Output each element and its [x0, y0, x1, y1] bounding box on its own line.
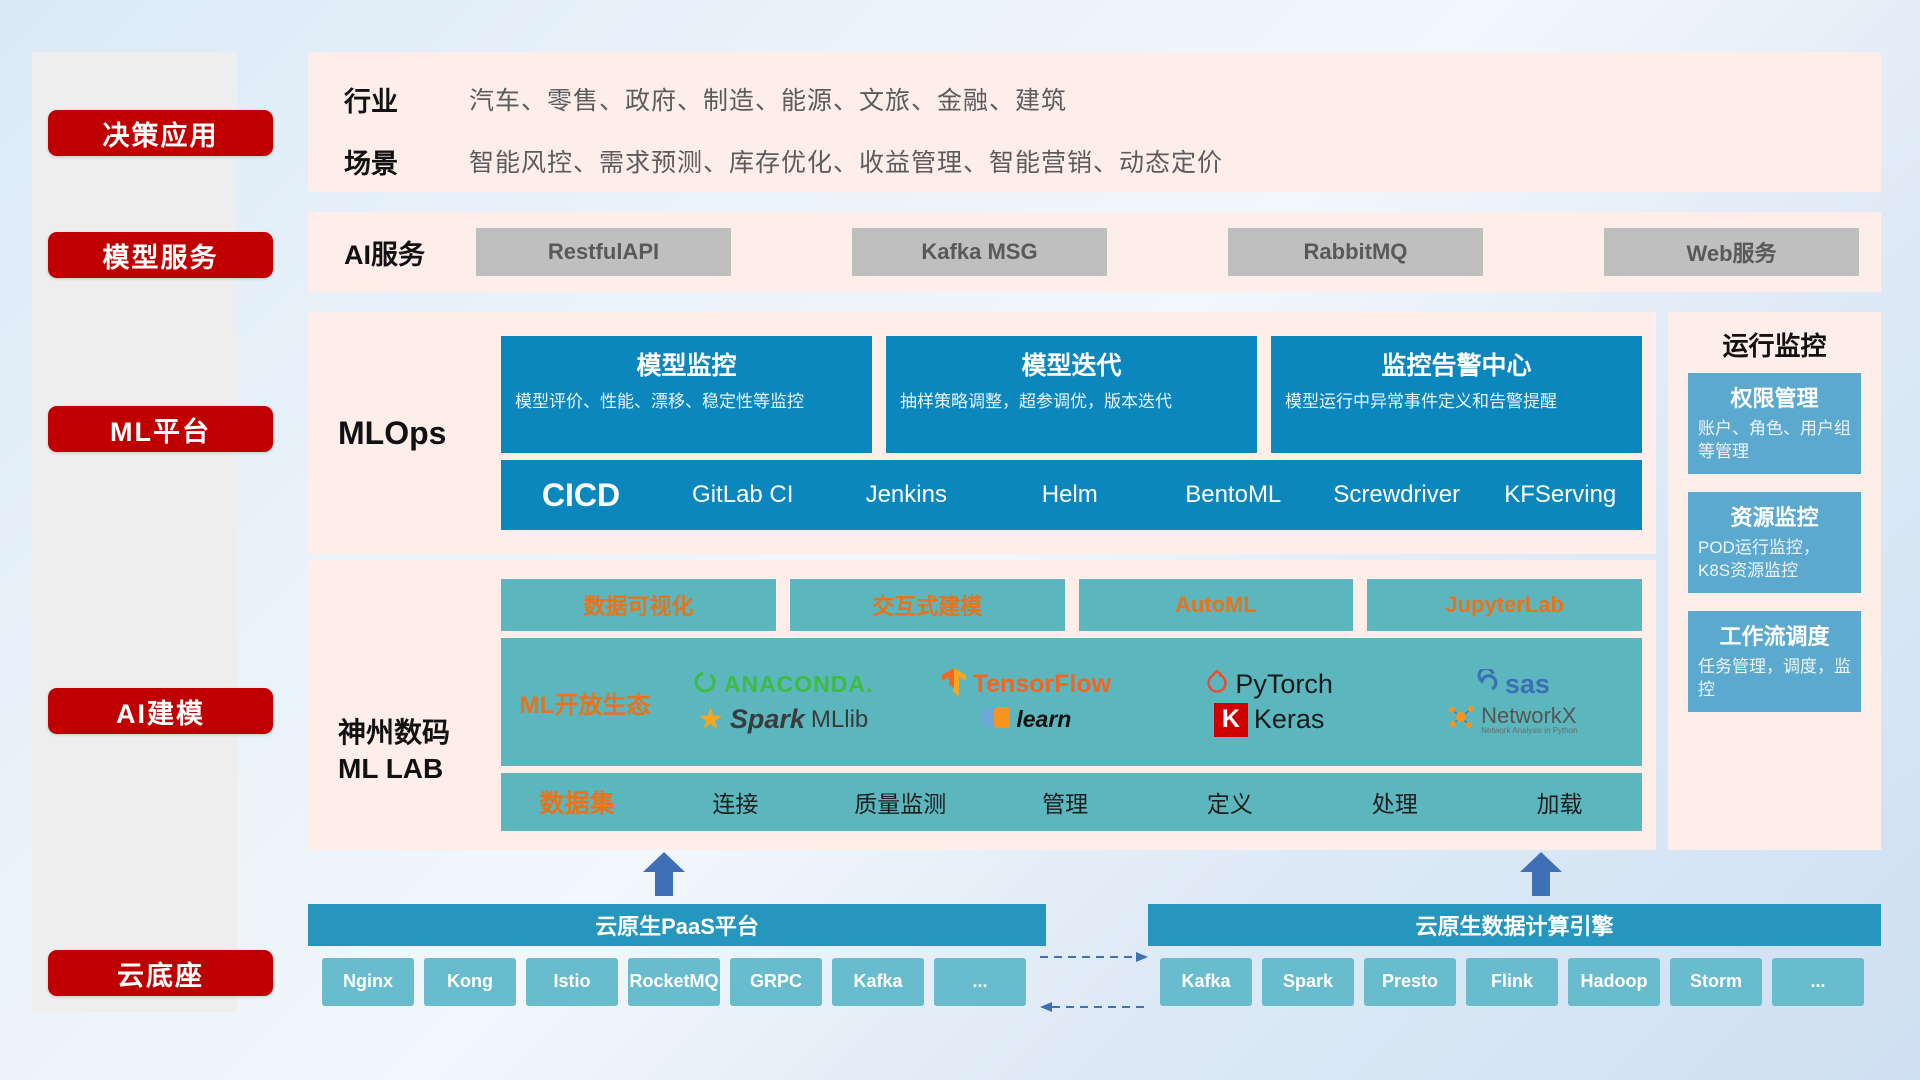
cloud-chip-kafka-engine[interactable]: Kafka	[1160, 958, 1252, 1006]
anaconda-icon	[692, 669, 718, 700]
cloud-chip-more-right[interactable]: ...	[1772, 958, 1864, 1006]
tensorflow-label: TensorFlow	[973, 670, 1111, 699]
modeling-label: 神州数码 ML LAB	[308, 623, 501, 788]
ai-service-band: AI服务 RestfulAPI Kafka MSG RabbitMQ Web服务	[308, 212, 1881, 292]
card-desc: 任务管理，调度，监控	[1698, 655, 1851, 702]
card-desc: 抽样策略调整，超参调优，版本迭代	[900, 390, 1243, 415]
card-title: 权限管理	[1698, 381, 1851, 413]
card-desc: 模型运行中异常事件定义和告警提醒	[1285, 390, 1628, 415]
mllib-label: MLlib	[811, 706, 868, 734]
cicd-item-screwdriver[interactable]: Screwdriver	[1315, 482, 1479, 507]
mlops-card-model-monitoring[interactable]: 模型监控 模型评价、性能、漂移、稳定性等监控	[501, 336, 872, 453]
dashed-connector-left-icon	[1040, 1000, 1148, 1002]
networkx-label: NetworkX	[1481, 705, 1578, 727]
tab-data-visualization[interactable]: 数据可视化	[501, 579, 776, 631]
layer-pill-ai-modeling[interactable]: AI建模	[48, 688, 273, 734]
cloud-chip-more-left[interactable]: ...	[934, 958, 1026, 1006]
keras-logo: K Keras	[1214, 703, 1325, 737]
keras-label: Keras	[1254, 704, 1325, 735]
cloud-chip-grpc[interactable]: GRPC	[730, 958, 822, 1006]
pytorch-logo: PyTorch	[1205, 668, 1333, 701]
dataset-title: 数据集	[501, 784, 653, 820]
dataset-item-load[interactable]: 加载	[1477, 785, 1642, 819]
cicd-row: CICD GitLab CI Jenkins Helm BentoML Scre…	[501, 460, 1642, 530]
tab-automl[interactable]: AutoML	[1079, 579, 1354, 631]
cicd-item-kfserving[interactable]: KFServing	[1479, 482, 1643, 507]
dataset-item-manage[interactable]: 管理	[983, 785, 1148, 819]
cicd-item-jenkins[interactable]: Jenkins	[825, 482, 989, 507]
pytorch-label: PyTorch	[1235, 669, 1333, 700]
networkx-icon	[1447, 704, 1475, 735]
tab-interactive-modeling[interactable]: 交互式建模	[790, 579, 1065, 631]
service-chip-web[interactable]: Web服务	[1604, 228, 1859, 276]
layer-rail	[32, 52, 237, 1012]
card-title: 工作流调度	[1698, 619, 1851, 651]
scikit-learn-label: learn	[1016, 706, 1071, 733]
networkx-sublabel: Network Analysis in Python	[1481, 727, 1578, 735]
tab-jupyterlab[interactable]: JupyterLab	[1367, 579, 1642, 631]
modeling-band: 神州数码 ML LAB 数据可视化 交互式建模 AutoML JupyterLa…	[308, 560, 1656, 850]
cloud-data-engine-bar[interactable]: 云原生数据计算引擎	[1148, 904, 1881, 946]
scenario-row: 场景 智能风控、需求预测、库存优化、收益管理、智能营销、动态定价	[308, 130, 1881, 192]
dataset-item-process[interactable]: 处理	[1312, 785, 1477, 819]
ml-ecosystem-row: ML开放生态 ANACONDA. TensorFlow	[501, 638, 1642, 766]
application-band: 行业 汽车、零售、政府、制造、能源、文旅、金融、建筑 场景 智能风控、需求预测、…	[308, 52, 1881, 192]
modeling-tab-group: 数据可视化 交互式建模 AutoML JupyterLab	[501, 579, 1642, 631]
keras-mark-icon: K	[1214, 703, 1248, 737]
dataset-row: 数据集 连接 质量监测 管理 定义 处理 加载	[501, 773, 1642, 831]
cloud-left-chip-group: Nginx Kong Istio RocketMQ GRPC Kafka ...	[322, 958, 1026, 1006]
dataset-item-quality[interactable]: 质量监测	[818, 785, 983, 819]
sas-icon	[1475, 669, 1499, 700]
cloud-paas-bar[interactable]: 云原生PaaS平台	[308, 904, 1046, 946]
ml-ecosystem-label: ML开放生态	[509, 685, 661, 720]
industry-value: 汽车、零售、政府、制造、能源、文旅、金融、建筑	[469, 81, 1067, 117]
layer-pill-cloud-base[interactable]: 云底座	[48, 950, 273, 996]
runtime-monitoring-title: 运行监控	[1668, 312, 1881, 373]
networkx-logo: NetworkX Network Analysis in Python	[1447, 704, 1578, 735]
monitor-card-resource[interactable]: 资源监控 POD运行监控，K8S资源监控	[1688, 492, 1861, 593]
sas-logo: sas	[1475, 669, 1550, 700]
card-desc: POD运行监控，K8S资源监控	[1698, 536, 1851, 583]
layer-pill-decision-app[interactable]: 决策应用	[48, 110, 273, 156]
cicd-title: CICD	[501, 477, 661, 514]
arrow-up-paas-icon	[643, 852, 685, 896]
modeling-label-line2: ML LAB	[338, 751, 501, 787]
sas-label: sas	[1505, 669, 1550, 700]
cicd-item-group: GitLab CI Jenkins Helm BentoML Screwdriv…	[661, 482, 1642, 507]
cloud-chip-presto[interactable]: Presto	[1364, 958, 1456, 1006]
card-title: 监控告警中心	[1285, 346, 1628, 382]
service-chip-rabbitmq[interactable]: RabbitMQ	[1228, 228, 1483, 276]
card-desc: 账户、角色、用户组等管理	[1698, 417, 1851, 464]
industry-row: 行业 汽车、零售、政府、制造、能源、文旅、金融、建筑	[308, 68, 1881, 130]
cloud-chip-nginx[interactable]: Nginx	[322, 958, 414, 1006]
cicd-item-helm[interactable]: Helm	[988, 482, 1152, 507]
spark-star-icon: ★	[697, 702, 724, 737]
tensorflow-icon	[941, 667, 967, 702]
cloud-chip-kafka[interactable]: Kafka	[832, 958, 924, 1006]
service-chip-restfulapi[interactable]: RestfulAPI	[476, 228, 731, 276]
cloud-chip-flink[interactable]: Flink	[1466, 958, 1558, 1006]
arrow-up-data-engine-icon	[1520, 852, 1562, 896]
ai-service-label: AI服务	[308, 233, 476, 272]
scenario-value: 智能风控、需求预测、库存优化、收益管理、智能营销、动态定价	[469, 143, 1223, 179]
ai-service-chip-group: RestfulAPI Kafka MSG RabbitMQ Web服务	[476, 228, 1881, 276]
scikit-ellipse-icon	[980, 702, 1010, 737]
card-desc: 模型评价、性能、漂移、稳定性等监控	[515, 390, 858, 415]
mlops-card-group: 模型监控 模型评价、性能、漂移、稳定性等监控 模型迭代 抽样策略调整，超参调优，…	[501, 336, 1642, 453]
anaconda-logo: ANACONDA.	[692, 669, 874, 700]
card-title: 模型监控	[515, 346, 858, 382]
dataset-item-group: 连接 质量监测 管理 定义 处理 加载	[653, 785, 1642, 819]
architecture-diagram: 决策应用 模型服务 ML平台 AI建模 云底座 行业 汽车、零售、政府、制造、能…	[0, 0, 1920, 1080]
mlops-label: MLOps	[308, 415, 501, 452]
mlops-body: 模型监控 模型评价、性能、漂移、稳定性等监控 模型迭代 抽样策略调整，超参调优，…	[501, 336, 1656, 530]
cloud-chip-spark[interactable]: Spark	[1262, 958, 1354, 1006]
layer-pill-model-service[interactable]: 模型服务	[48, 232, 273, 278]
cloud-chip-storm[interactable]: Storm	[1670, 958, 1762, 1006]
modeling-body: 数据可视化 交互式建模 AutoML JupyterLab ML开放生态 ANA…	[501, 579, 1656, 831]
cicd-item-bentoml[interactable]: BentoML	[1152, 482, 1316, 507]
spark-label: Spark	[730, 704, 805, 735]
dashed-connector-right-icon	[1040, 950, 1148, 952]
tensorflow-logo: TensorFlow	[941, 667, 1111, 702]
monitor-card-permission[interactable]: 权限管理 账户、角色、用户组等管理	[1688, 373, 1861, 474]
scikit-learn-logo: learn	[980, 702, 1071, 737]
layer-pill-ml-platform[interactable]: ML平台	[48, 406, 273, 452]
runtime-monitoring-panel: 运行监控 权限管理 账户、角色、用户组等管理 资源监控 POD运行监控，K8S资…	[1668, 312, 1881, 850]
modeling-label-line1: 神州数码	[338, 715, 501, 751]
cloud-chip-rocketmq[interactable]: RocketMQ	[628, 958, 720, 1006]
dataset-item-define[interactable]: 定义	[1147, 785, 1312, 819]
monitor-card-workflow[interactable]: 工作流调度 任务管理，调度，监控	[1688, 611, 1861, 712]
cloud-right-chip-group: Kafka Spark Presto Flink Hadoop Storm ..…	[1160, 958, 1864, 1006]
anaconda-label: ANACONDA.	[724, 671, 874, 698]
ecosystem-logo-grid: ANACONDA. TensorFlow PyTorch	[661, 667, 1634, 737]
service-chip-kafka-msg[interactable]: Kafka MSG	[852, 228, 1107, 276]
industry-label: 行业	[308, 80, 469, 119]
mlops-card-alert-center[interactable]: 监控告警中心 模型运行中异常事件定义和告警提醒	[1271, 336, 1642, 453]
card-title: 模型迭代	[900, 346, 1243, 382]
cicd-item-gitlab-ci[interactable]: GitLab CI	[661, 482, 825, 507]
mlops-card-model-iteration[interactable]: 模型迭代 抽样策略调整，超参调优，版本迭代	[886, 336, 1257, 453]
cloud-chip-kong[interactable]: Kong	[424, 958, 516, 1006]
mlops-band: MLOps 模型监控 模型评价、性能、漂移、稳定性等监控 模型迭代 抽样策略调整…	[308, 312, 1656, 554]
card-title: 资源监控	[1698, 500, 1851, 532]
dataset-item-connect[interactable]: 连接	[653, 785, 818, 819]
cloud-chip-hadoop[interactable]: Hadoop	[1568, 958, 1660, 1006]
scenario-label: 场景	[308, 142, 469, 181]
spark-mllib-logo: ★ Spark MLlib	[697, 702, 868, 737]
pytorch-icon	[1205, 668, 1229, 701]
cloud-chip-istio[interactable]: Istio	[526, 958, 618, 1006]
